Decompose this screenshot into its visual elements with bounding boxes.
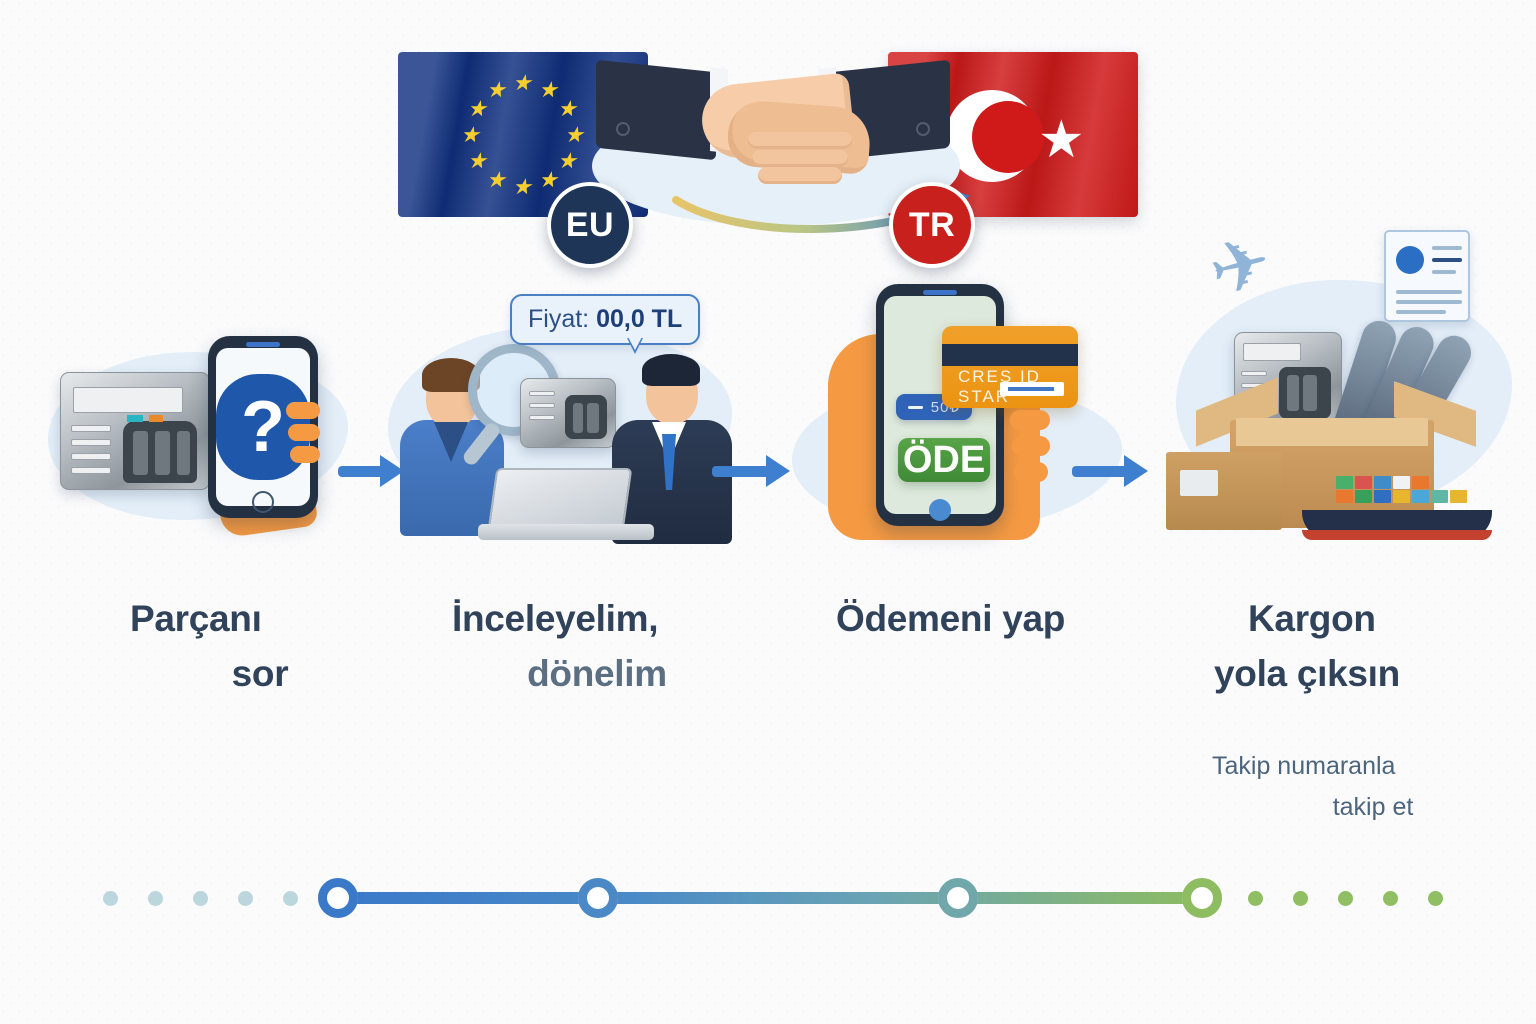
- step-2-caption: İnceleyelim, dönelim: [452, 592, 742, 702]
- step-4-subtitle-line2: takip et: [1218, 787, 1528, 828]
- step-1-illustration: ?: [40, 330, 370, 550]
- eu-badge: EU: [547, 182, 633, 268]
- cuff-button-right: [916, 122, 930, 136]
- star-icon: ★: [512, 176, 532, 198]
- tr-badge: TR: [889, 182, 975, 268]
- infographic-canvas: ★★★★★★★★★★★★ ★: [0, 0, 1536, 1024]
- star-icon: ★: [512, 72, 532, 94]
- finger: [1010, 410, 1050, 430]
- finger: [1012, 436, 1050, 456]
- finger: [1014, 462, 1048, 482]
- timeline-trail-dot: [1293, 891, 1308, 906]
- tr-badge-label: TR: [909, 206, 955, 245]
- airplane-icon: ✈: [1201, 218, 1280, 314]
- step-3-caption: Ödemeni yap: [836, 592, 1136, 647]
- suit-sleeve-left: [596, 60, 716, 161]
- pay-button[interactable]: ÖDE: [898, 438, 990, 482]
- finger: [288, 424, 320, 441]
- progress-timeline: [0, 864, 1536, 928]
- step3-to-step4-arrow: [1072, 462, 1152, 480]
- step-2-title-line2: dönelim: [452, 647, 742, 702]
- cuff-button-left: [616, 122, 630, 136]
- phone-speaker: [923, 290, 957, 295]
- phone-speaker: [246, 342, 280, 347]
- step-3-title-line1: Ödemeni yap: [836, 592, 1136, 647]
- timeline-lead-dot: [238, 891, 253, 906]
- timeline-lead-dot: [283, 891, 298, 906]
- laptop-screen: [488, 468, 633, 530]
- price-label: Fiyat:: [528, 305, 589, 333]
- credit-card-image: CRES ID STAR: [942, 326, 1078, 408]
- step-4-subtitle-line1: Takip numaranla: [1212, 746, 1528, 787]
- step-1-caption: Parçanı sor: [130, 592, 390, 702]
- step-4-title-line2: yola çıksın: [1214, 647, 1528, 702]
- timeline-trail-dot: [1338, 891, 1353, 906]
- timeline-bar: [338, 892, 1202, 904]
- step-4-caption: Kargon yola çıksın Takip numaranla takip…: [1248, 592, 1528, 828]
- timeline-lead-dot: [103, 891, 118, 906]
- header-banner: ★★★★★★★★★★★★ ★: [392, 44, 1142, 244]
- step-2-title-line1: İnceleyelim,: [452, 592, 742, 647]
- star-icon: ★: [486, 78, 506, 100]
- step-1-title-line1: Parçanı: [130, 592, 390, 647]
- timeline-lead-dot: [148, 891, 163, 906]
- card-chip: [1000, 382, 1064, 396]
- phone-home-button: [929, 499, 951, 521]
- eu-badge-label: EU: [566, 206, 614, 245]
- price-value: 00,0 TL: [596, 305, 682, 333]
- step-2-illustration: Fiyat: 00,0 TL: [382, 292, 738, 550]
- small-parcel: [1166, 452, 1282, 530]
- finger: [290, 446, 320, 463]
- star-icon: ★: [1038, 114, 1085, 166]
- finger: [286, 402, 320, 419]
- step-1-title-line2: sor: [130, 647, 390, 702]
- timeline-trail-dot: [1428, 891, 1443, 906]
- step-4-illustration: ✈: [1152, 222, 1536, 547]
- card-magstripe: [942, 344, 1078, 366]
- laptop-base: [478, 524, 654, 540]
- star-icon: ★: [467, 98, 487, 120]
- step-4-title-line1: Kargon: [1248, 592, 1528, 647]
- box-inner-flap: [1236, 418, 1428, 446]
- star-icon: ★: [467, 150, 487, 172]
- timeline-trail-dot: [1248, 891, 1263, 906]
- shipping-document-icon: [1384, 230, 1470, 322]
- star-icon: ★: [486, 169, 506, 191]
- timeline-node-4[interactable]: [1182, 878, 1222, 918]
- finger: [748, 132, 852, 149]
- finger: [752, 150, 848, 167]
- machine-part-image: [520, 378, 616, 448]
- timeline-lead-dot: [193, 891, 208, 906]
- cargo-ship-image: [1302, 470, 1492, 540]
- step2-to-step3-arrow: [712, 462, 792, 480]
- timeline-trail-dot: [1383, 891, 1398, 906]
- step-3-illustration: 50₺ ÖDE CRES ID STAR: [792, 282, 1142, 550]
- phone-home-button: [252, 491, 274, 513]
- timeline-node-1[interactable]: [318, 878, 358, 918]
- price-speech-bubble: Fiyat: 00,0 TL: [510, 294, 700, 345]
- machine-part-image: [60, 372, 210, 490]
- timeline-node-2[interactable]: [578, 878, 618, 918]
- timeline-node-3[interactable]: [938, 878, 978, 918]
- pay-button-label: ÖDE: [903, 439, 985, 482]
- star-icon: ★: [460, 124, 480, 146]
